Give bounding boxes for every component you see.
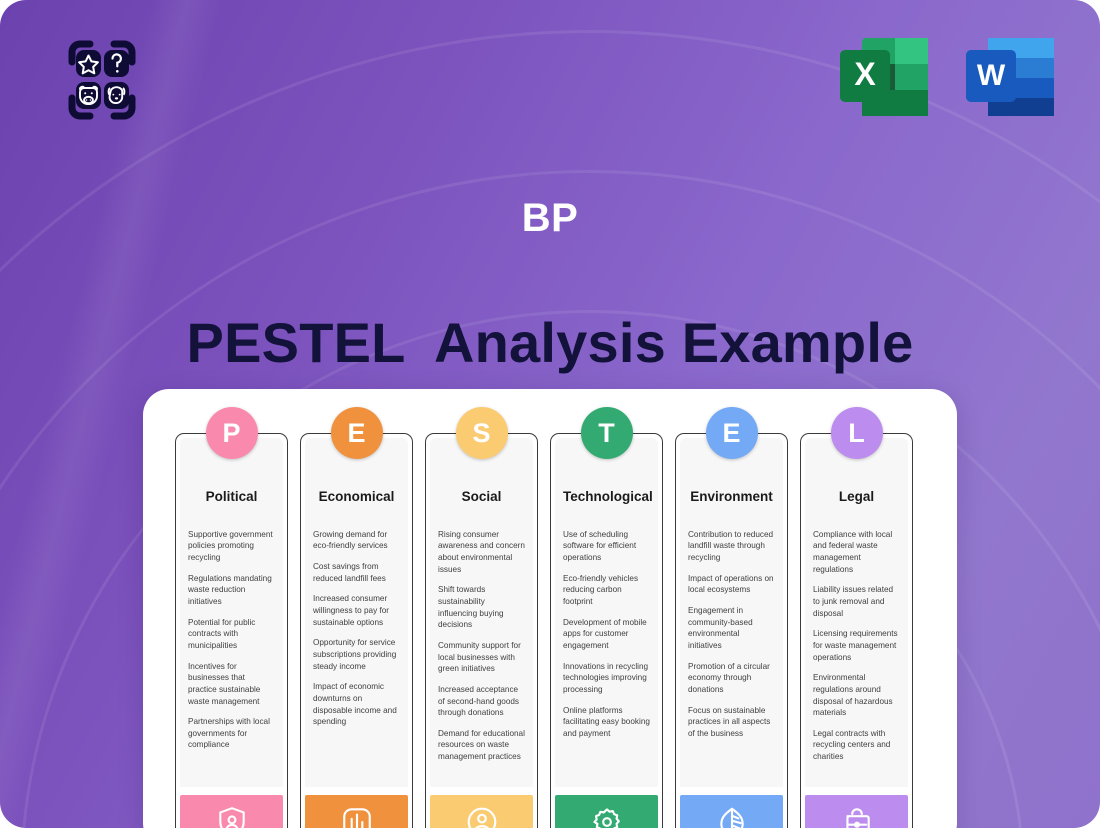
briefcase-icon <box>805 795 908 828</box>
list-item: Incentives for businesses that practice … <box>188 661 275 708</box>
list-item: Cost savings from reduced landfill fees <box>313 561 400 584</box>
pestel-item-list: Growing demand for eco-friendly services… <box>313 529 400 728</box>
list-item: Community support for local businesses w… <box>438 640 525 675</box>
pet-scan-logo-icon <box>52 30 152 130</box>
list-item: Engagement in community-based environmen… <box>688 605 775 652</box>
pestel-column-body: PoliticalSupportive government policies … <box>180 438 283 787</box>
list-item: Licensing requirements for waste managem… <box>813 628 900 663</box>
bar-chart-icon <box>305 795 408 828</box>
list-item: Innovations in recycling technologies im… <box>563 661 650 696</box>
pestel-column-legal[interactable]: LLegalCompliance with local and federal … <box>800 433 913 828</box>
pestel-item-list: Use of scheduling software for efficient… <box>563 529 650 740</box>
pestel-letter-badge: E <box>706 407 758 459</box>
list-item: Increased consumer willingness to pay fo… <box>313 593 400 628</box>
word-file-icon: W <box>962 32 1060 120</box>
list-item: Demand for educational resources on wast… <box>438 728 525 763</box>
page-title: PESTEL Analysis Example <box>0 310 1100 375</box>
list-item: Eco-friendly vehicles reducing carbon fo… <box>563 573 650 608</box>
list-item: Focus on sustainable practices in all as… <box>688 705 775 740</box>
list-item: Supportive government policies promoting… <box>188 529 275 564</box>
pestel-column-economical[interactable]: EEconomicalGrowing demand for eco-friend… <box>300 433 413 828</box>
pestel-column-technological[interactable]: TTechnologicalUse of scheduling software… <box>550 433 663 828</box>
pestel-item-list: Supportive government policies promoting… <box>188 529 275 751</box>
pestel-column-body: LegalCompliance with local and federal w… <box>805 438 908 787</box>
pestel-letter-badge: T <box>581 407 633 459</box>
pestel-item-list: Compliance with local and federal waste … <box>813 529 900 763</box>
list-item: Development of mobile apps for customer … <box>563 617 650 652</box>
brand-logo <box>52 30 152 130</box>
brand-label: BP <box>0 196 1100 241</box>
list-item: Contribution to reduced landfill waste t… <box>688 529 775 564</box>
list-item: Impact of operations on local ecosystems <box>688 573 775 596</box>
list-item: Rising consumer awareness and concern ab… <box>438 529 525 576</box>
svg-text:X: X <box>854 56 876 92</box>
pestel-item-list: Rising consumer awareness and concern ab… <box>438 529 525 763</box>
pestel-column-title: Technological <box>563 490 650 505</box>
svg-text:W: W <box>977 59 1006 92</box>
pestel-letter-badge: E <box>331 407 383 459</box>
pestel-column-body: EnvironmentContribution to reduced landf… <box>680 438 783 787</box>
list-item: Regulations mandating waste reduction in… <box>188 573 275 608</box>
gear-icon <box>555 795 658 828</box>
excel-file-icon: X <box>836 32 934 120</box>
pestel-columns: PPoliticalSupportive government policies… <box>175 433 925 828</box>
pestel-letter-badge: S <box>456 407 508 459</box>
pestel-card: PPoliticalSupportive government policies… <box>143 389 957 828</box>
pestel-column-social[interactable]: SSocialRising consumer awareness and con… <box>425 433 538 828</box>
pestel-column-title: Environment <box>688 490 775 505</box>
pestel-column-body: TechnologicalUse of scheduling software … <box>555 438 658 787</box>
pestel-column-body: EconomicalGrowing demand for eco-friendl… <box>305 438 408 787</box>
pestel-column-body: SocialRising consumer awareness and conc… <box>430 438 533 787</box>
list-item: Shift towards sustainability influencing… <box>438 584 525 631</box>
list-item: Promotion of a circular economy through … <box>688 661 775 696</box>
list-item: Environmental regulations around disposa… <box>813 672 900 719</box>
list-item: Liability issues related to junk removal… <box>813 584 900 619</box>
person-circle-icon <box>430 795 533 828</box>
pestel-letter-badge: P <box>206 407 258 459</box>
poster-root: X W BP PESTEL Analysis Example PPolitica… <box>0 0 1100 828</box>
pestel-column-title: Economical <box>313 490 400 505</box>
pestel-column-title: Legal <box>813 490 900 505</box>
list-item: Growing demand for eco-friendly services <box>313 529 400 552</box>
list-item: Impact of economic downturns on disposab… <box>313 681 400 728</box>
list-item: Increased acceptance of second-hand good… <box>438 684 525 719</box>
pestel-column-title: Political <box>188 490 275 505</box>
list-item: Legal contracts with recycling centers a… <box>813 728 900 763</box>
pestel-column-environment[interactable]: EEnvironmentContribution to reduced land… <box>675 433 788 828</box>
list-item: Opportunity for service subscriptions pr… <box>313 637 400 672</box>
list-item: Potential for public contracts with muni… <box>188 617 275 652</box>
office-file-badges: X W <box>836 32 1060 120</box>
leaf-icon <box>680 795 783 828</box>
list-item: Use of scheduling software for efficient… <box>563 529 650 564</box>
pestel-column-title: Social <box>438 490 525 505</box>
shield-person-icon <box>180 795 283 828</box>
pestel-column-political[interactable]: PPoliticalSupportive government policies… <box>175 433 288 828</box>
list-item: Compliance with local and federal waste … <box>813 529 900 576</box>
list-item: Online platforms facilitating easy booki… <box>563 705 650 740</box>
pestel-letter-badge: L <box>831 407 883 459</box>
list-item: Partnerships with local governments for … <box>188 716 275 751</box>
pestel-item-list: Contribution to reduced landfill waste t… <box>688 529 775 740</box>
